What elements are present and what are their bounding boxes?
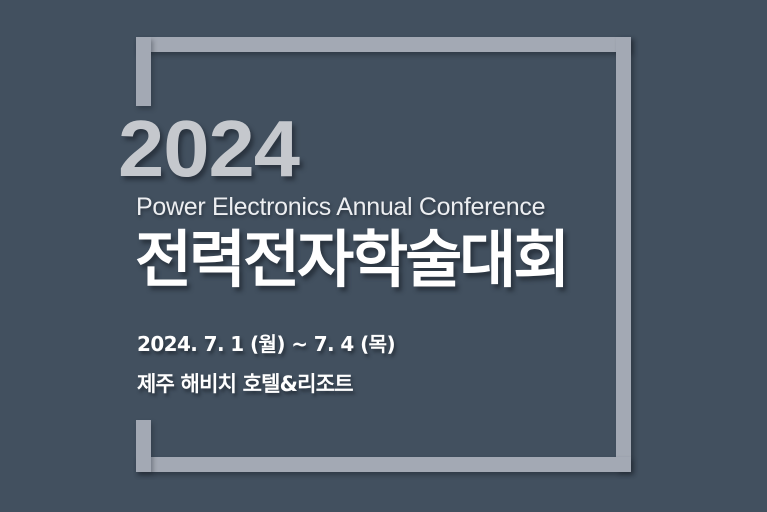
- conference-year: 2024: [118, 112, 638, 186]
- frame-left-bottom-segment: [136, 420, 151, 472]
- frame-left-top-segment: [136, 37, 151, 106]
- conference-date: 2024. 7. 1 (월) ~ 7. 4 (목): [137, 328, 618, 357]
- frame-right-border: [616, 37, 631, 472]
- poster-content: 2024 Power Electronics Annual Conference…: [118, 112, 618, 398]
- conference-venue: 제주 해비치 호텔&리조트: [137, 368, 618, 398]
- conference-subtitle-english: Power Electronics Annual Conference: [136, 192, 618, 223]
- frame-top-border: [136, 37, 631, 52]
- conference-title-korean: 전력전자학술대회: [135, 227, 618, 294]
- conference-poster: 2024 Power Electronics Annual Conference…: [0, 0, 767, 512]
- frame-bottom-border: [136, 457, 631, 472]
